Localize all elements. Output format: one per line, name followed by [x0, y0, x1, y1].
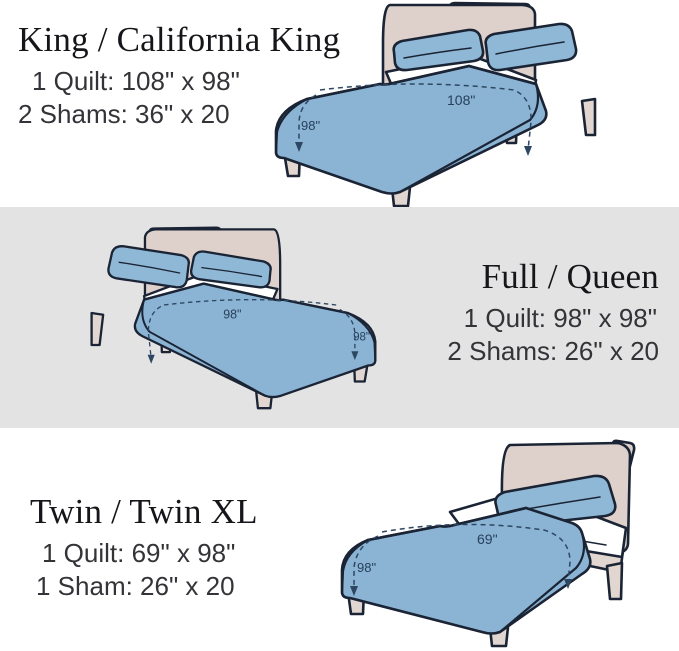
full-queen-bed-illustration: 98" 98" [16, 212, 386, 422]
twin-text-block: Twin / Twin XL 1 Quilt: 69" x 98" 1 Sham… [30, 494, 258, 604]
full-queen-line-2: 2 Shams: 26" x 20 [447, 335, 659, 369]
quilt-body [342, 508, 590, 634]
arrowhead-width [148, 355, 155, 364]
full-queen-dim-width-label: 98" [223, 307, 241, 321]
twin-title: Twin / Twin XL [30, 494, 258, 530]
full-queen-title: Full / Queen [447, 259, 659, 295]
section-full-queen: Full / Queen 1 Quilt: 98" x 98" 2 Shams:… [0, 207, 679, 428]
twin-line-1: 1 Quilt: 69" x 98" [30, 537, 258, 571]
arrowhead-width [524, 146, 532, 156]
king-dim-width-label: 108" [447, 92, 475, 108]
full-queen-line-1: 1 Quilt: 98" x 98" [447, 302, 659, 336]
size-guide-graphic: King / California King 1 Quilt: 108" x 9… [0, 0, 679, 651]
quilt-body [135, 284, 375, 397]
bed-leg-back-right [582, 99, 595, 135]
twin-bed-illustration: 69" 98" [330, 432, 678, 648]
bed-leg-back-right [92, 313, 104, 345]
twin-dim-length-label: 98" [357, 560, 376, 575]
king-dim-length-label: 98" [301, 118, 320, 133]
full-queen-text-block: Full / Queen 1 Quilt: 98" x 98" 2 Shams:… [447, 259, 659, 369]
twin-line-2: 1 Sham: 26" x 20 [30, 570, 258, 604]
twin-dim-width-label: 69" [477, 531, 498, 547]
full-queen-dim-length-label: 98" [353, 332, 370, 344]
king-bed-illustration: 108" 98" [264, 0, 679, 207]
bed-leg-right [607, 563, 622, 599]
section-twin: Twin / Twin XL 1 Quilt: 69" x 98" 1 Sham… [0, 428, 679, 651]
section-king: King / California King 1 Quilt: 108" x 9… [0, 0, 679, 207]
